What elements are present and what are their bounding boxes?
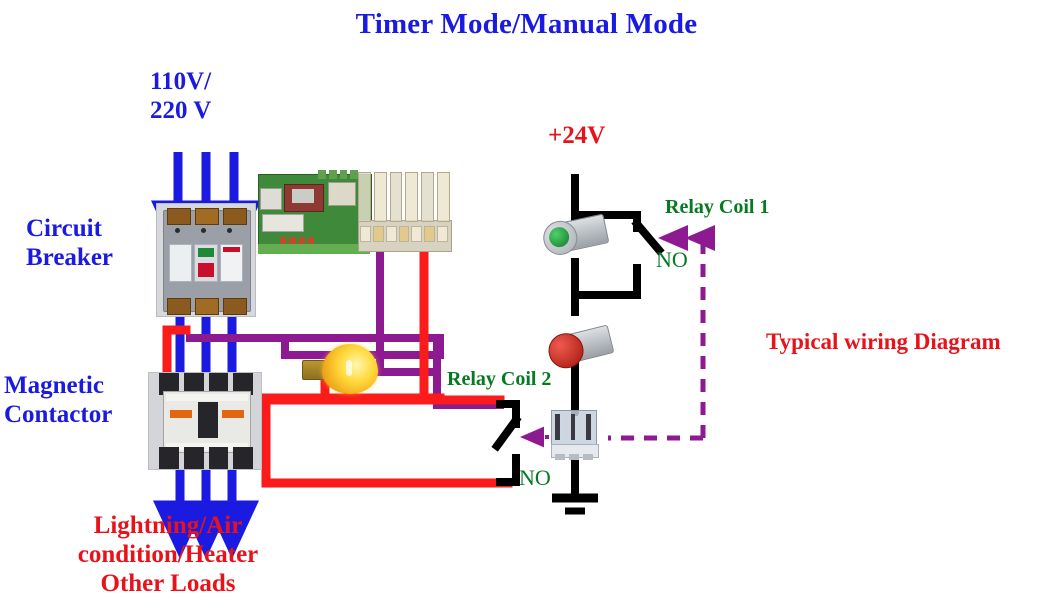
plug-in-relay-module (551, 410, 601, 460)
pcb-connector-strip (262, 214, 304, 232)
wiring-diagram-canvas: Timer Mode/Manual Mode 110V/ 220 V Circu… (0, 0, 1053, 616)
breaker-off-indicator (198, 248, 213, 257)
earth-ground-symbol (552, 498, 598, 511)
loads-label: Lightning/Air condition/Heater Other Loa… (48, 512, 288, 598)
relay-coil-1-label: Relay Coil 1 (665, 196, 769, 219)
supply-arrows-in (178, 152, 234, 205)
magnetic-contactor-device (148, 372, 262, 470)
incandescent-lamp (302, 340, 380, 398)
breaker-top-terminals (165, 208, 247, 223)
dc-supply-label: +24V (548, 122, 605, 151)
pcb-rail-bottom (258, 244, 370, 254)
lamp-filament (346, 360, 352, 376)
relay-coil-2-label: Relay Coil 2 (447, 368, 551, 391)
breaker-bottom-terminals (165, 298, 247, 313)
typical-wiring-annotation: Typical wiring Diagram (766, 329, 1001, 355)
breaker-on-button[interactable] (198, 263, 213, 277)
relay-pins (555, 454, 593, 460)
supply-voltage-label: 110V/ 220 V (150, 68, 211, 126)
contactor-bottom-lugs (159, 447, 253, 469)
circuit-breaker-device (156, 203, 256, 317)
magnetic-contactor-label: Magnetic Contactor (4, 372, 112, 430)
relay-feedback-dashed-coil1 (690, 238, 703, 438)
no-contact-2-label: NO (519, 465, 551, 490)
pcb-module-chip (292, 189, 314, 203)
timer-controller-board (258, 168, 370, 256)
relay-internals (555, 414, 591, 440)
no-contact-1-label: NO (656, 247, 688, 272)
pcb-leds (280, 237, 314, 244)
page-title: Timer Mode/Manual Mode (0, 8, 1053, 41)
relay-coil-2-schematic (497, 404, 516, 482)
terminal-block-slots (360, 226, 448, 242)
contactor-body (163, 391, 251, 453)
breaker-faceplate (169, 244, 243, 282)
pcb-top-caps (318, 170, 358, 179)
pcb-header-pins (328, 182, 356, 206)
pcb-relay-white (260, 188, 282, 210)
circuit-breaker-label: Circuit Breaker (26, 215, 113, 273)
relay-terminal-block (358, 170, 450, 252)
breaker-screws-top (175, 228, 237, 234)
terminal-block-relays (358, 172, 450, 222)
